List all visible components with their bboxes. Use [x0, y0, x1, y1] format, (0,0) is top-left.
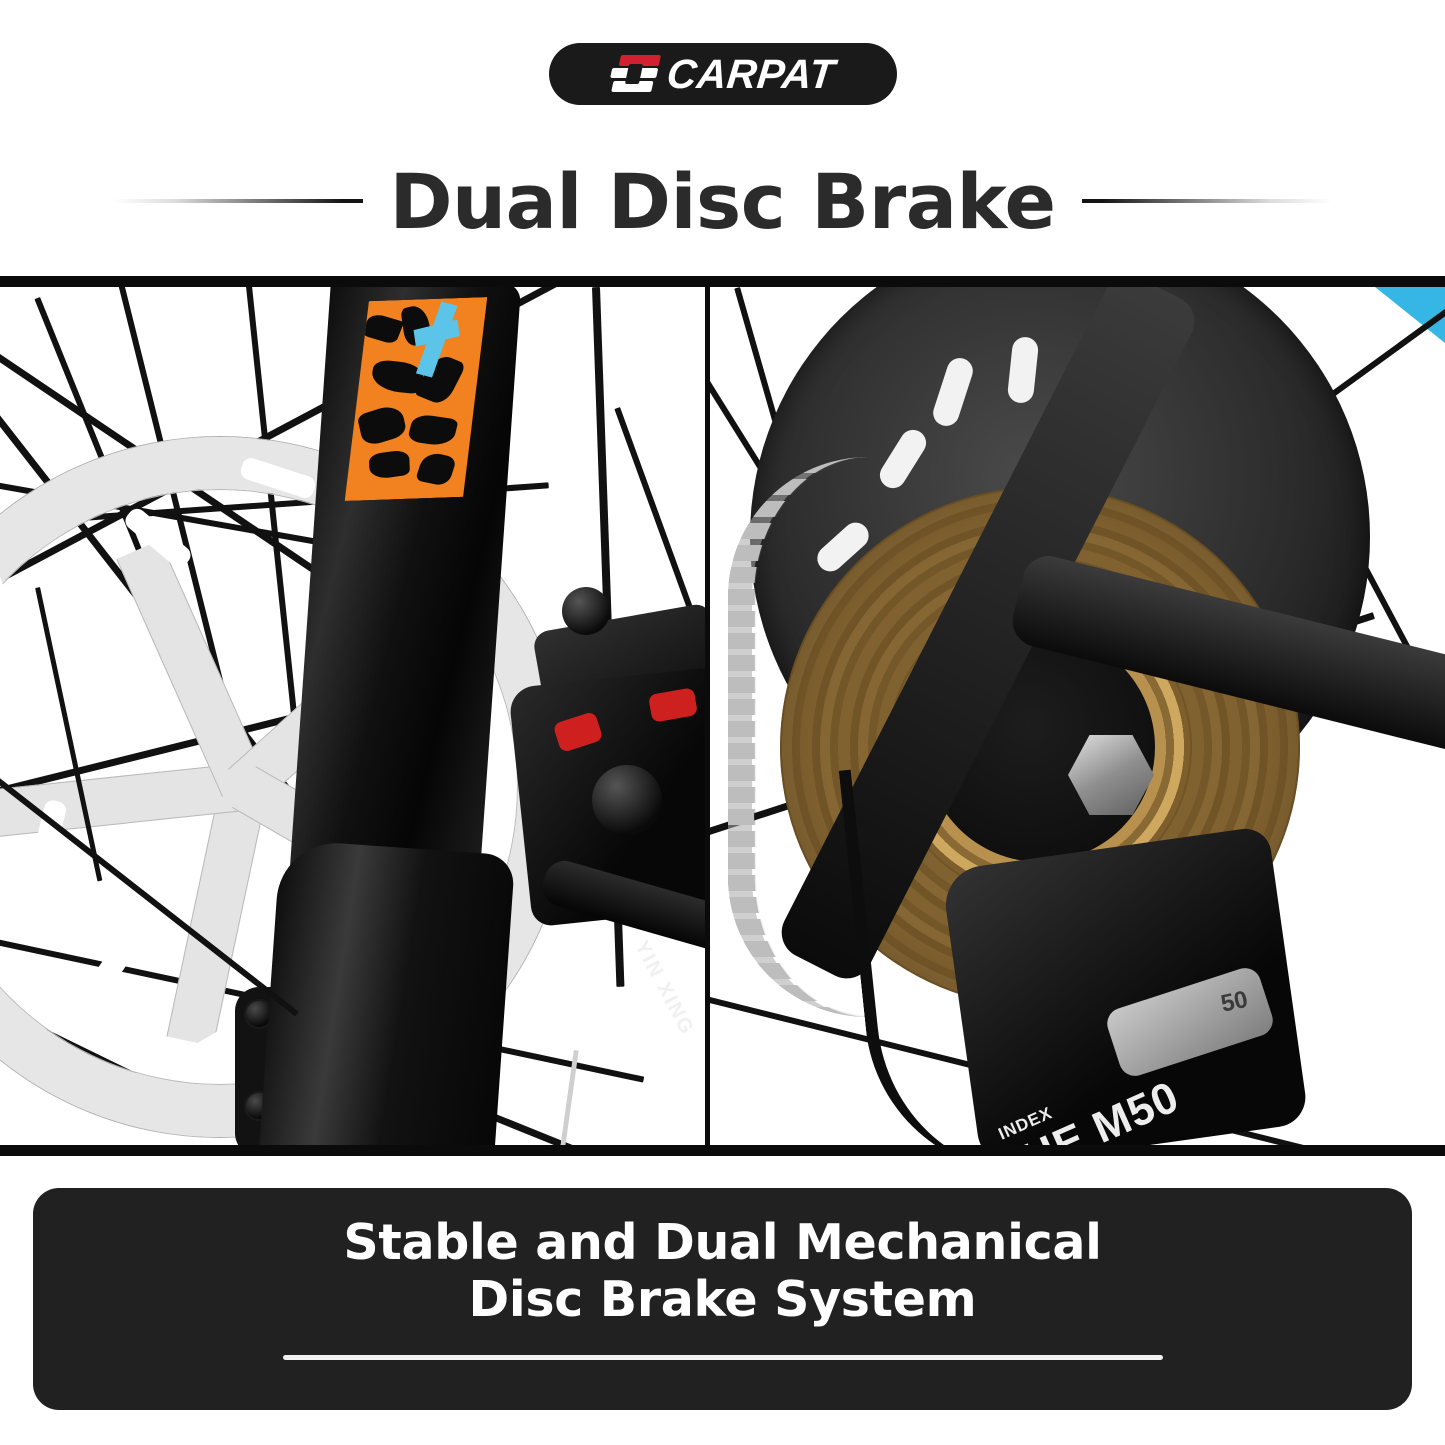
caption-line-1: Stable and Dual Mechanical: [343, 1214, 1101, 1271]
rear-shift-cable: [839, 746, 1124, 1145]
title-rule-right: [1082, 199, 1332, 203]
fork-graphic-decal: [345, 297, 488, 501]
front-brake-photo: KMC YIN XING: [0, 287, 710, 1145]
feature-caption-panel: Stable and Dual Mechanical Disc Brake Sy…: [33, 1188, 1412, 1410]
derailleur-plate-number: 50: [1219, 986, 1251, 1019]
caliper-brand-text: YIN XING: [629, 937, 698, 1039]
caption-line-2: Disc Brake System: [469, 1271, 977, 1328]
brand-header: CARPAT: [0, 0, 1445, 148]
page-title: Dual Disc Brake: [363, 157, 1081, 246]
brand-logo-label: CARPAT: [664, 51, 837, 97]
e-carpat-emblem-icon: [606, 54, 661, 94]
title-rule-left: [113, 199, 363, 203]
caption-underline: [283, 1355, 1163, 1360]
rear-cassette-photo: 50 INDEX IHE M50: [710, 287, 1445, 1145]
brand-logo-pill: CARPAT: [549, 43, 897, 105]
product-feature-card: CARPAT Dual Disc Brake: [0, 0, 1445, 1445]
section-title-row: Dual Disc Brake: [0, 146, 1445, 256]
fork-lower-leg: [256, 839, 516, 1145]
product-photo-strip: KMC YIN XING: [0, 276, 1445, 1156]
brand-logo-text: CARPAT: [664, 54, 836, 95]
